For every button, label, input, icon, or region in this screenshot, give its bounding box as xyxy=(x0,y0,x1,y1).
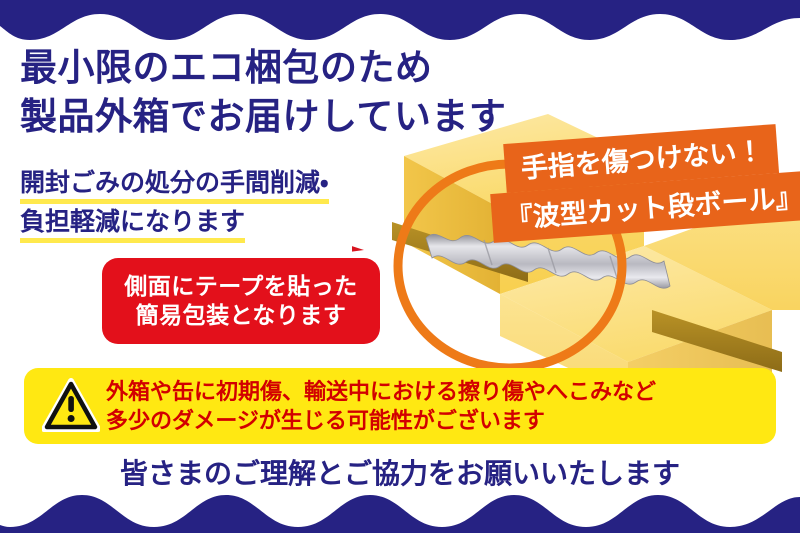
subheading-row-1: 開封ごみの処分の手間削減・ xyxy=(20,165,329,204)
warning-triangle-icon xyxy=(42,378,100,434)
damage-warning-line-1: 外箱や缶に初期傷、輸送中における擦り傷やへこみなど xyxy=(106,377,656,406)
headline-line-2: 製品外箱でお届けしています xyxy=(20,93,506,142)
closing-message: 皆さまのご理解とご協力をお願いいたします xyxy=(0,452,800,492)
subheading: 開封ごみの処分の手間削減・ 負担軽減になります xyxy=(20,165,329,243)
side-tape-callout-line-1: 側面にテープを貼った xyxy=(124,272,358,301)
subheading-line-2: 負担軽減になります xyxy=(20,204,245,243)
page-title: 最小限のエコ梱包のため 製品外箱でお届けしています xyxy=(20,44,506,142)
damage-warning-line-2: 多少のダメージが生じる可能性がございます xyxy=(106,406,656,435)
damage-warning-box: 外箱や缶に初期傷、輸送中における擦り傷やへこみなど 多少のダメージが生じる可能性… xyxy=(24,368,776,444)
side-tape-callout: 側面にテープを貼った 簡易包装となります xyxy=(102,258,380,344)
subheading-line-1: 開封ごみの処分の手間削減・ xyxy=(20,165,329,204)
side-tape-callout-line-2: 簡易包装となります xyxy=(136,301,347,330)
eco-packaging-notice-banner: 最小限のエコ梱包のため 製品外箱でお届けしています 開封ごみの処分の手間削減・ … xyxy=(0,0,800,533)
subheading-row-2: 負担軽減になります xyxy=(20,204,329,243)
top-wave-divider xyxy=(0,0,800,42)
headline-line-1: 最小限のエコ梱包のため xyxy=(20,44,506,93)
damage-warning-text: 外箱や缶に初期傷、輸送中における擦り傷やへこみなど 多少のダメージが生じる可能性… xyxy=(106,377,656,436)
